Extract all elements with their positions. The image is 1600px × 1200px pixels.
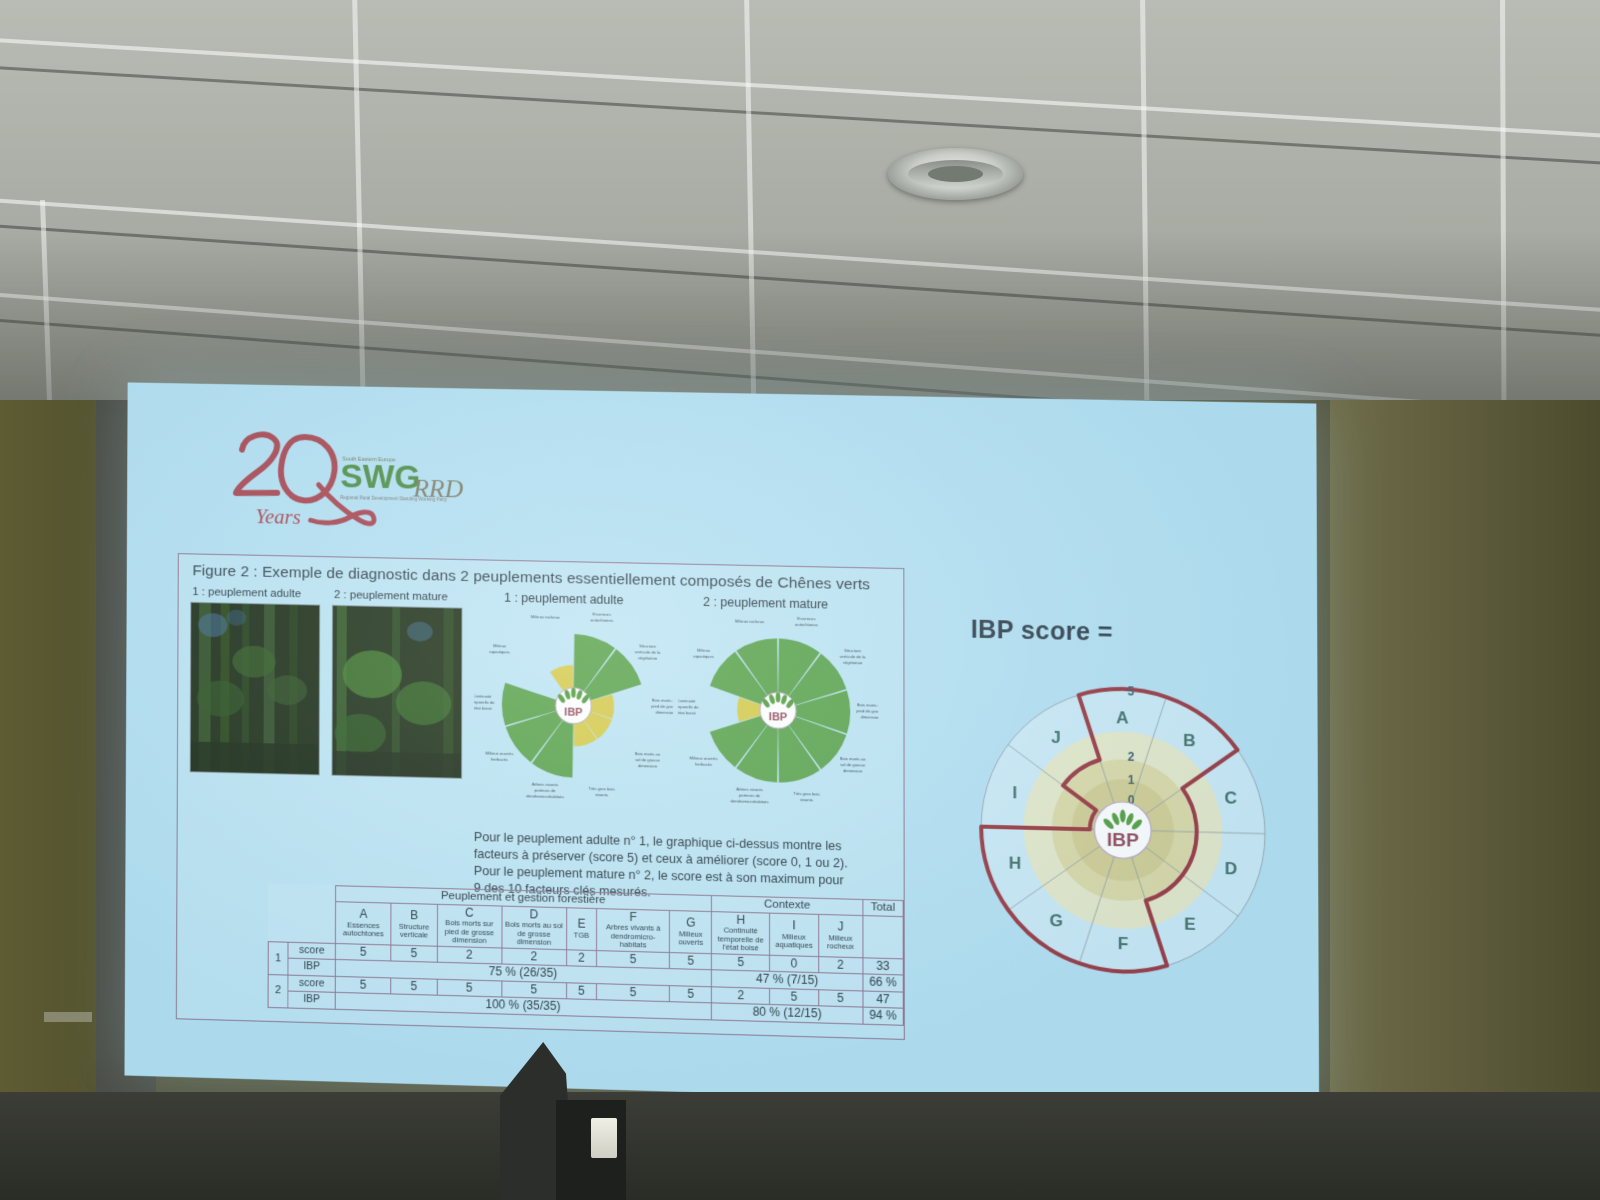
cell-total-1: 33 — [863, 958, 904, 976]
svg-text:B: B — [1183, 731, 1196, 751]
svg-text:Bois morts au: Bois morts au — [840, 756, 866, 762]
svg-text:autochtones: autochtones — [795, 622, 818, 628]
svg-text:Arbres vivants: Arbres vivants — [532, 782, 558, 788]
ibp-score-panel: IBP score = 0125ABCDEFGHIJIBP — [951, 615, 1286, 1026]
svg-text:temporelle de: temporelle de — [678, 704, 699, 710]
svg-text:l'état boisé: l'état boisé — [678, 710, 697, 716]
svg-text:IBP: IBP — [564, 706, 582, 718]
col-header-c: C Bois morts sur pied de grosse dimensio… — [437, 904, 502, 948]
photo-label-1: 1 : peuplement adulte — [192, 586, 301, 600]
svg-text:2: 2 — [1128, 750, 1135, 764]
cell-score-1-a: 5 — [335, 943, 391, 961]
cell-score-2-e: 5 — [566, 982, 596, 999]
forest-photo-adulte — [190, 602, 321, 776]
cell-score-1-c: 2 — [437, 946, 502, 964]
cell-ibp-context-2: 80 % (12/15) — [712, 1003, 863, 1024]
ibp-radar-chart: 0125ABCDEFGHIJIBP — [961, 657, 1286, 1003]
svg-text:Très gros bois: Très gros bois — [589, 786, 615, 792]
row-index-2: 2 — [268, 974, 288, 1007]
ibp-score-table: Peuplement et gestion forestière Context… — [268, 883, 904, 1025]
svg-text:Arbres vivants: Arbres vivants — [736, 787, 763, 793]
cell-score-2-c: 5 — [437, 979, 502, 997]
cell-total-2: 47 — [863, 991, 904, 1009]
col-header-h: H Continuité temporelle de l'état boisé — [712, 911, 770, 955]
svg-text:Structure: Structure — [639, 643, 657, 648]
svg-text:G: G — [1050, 910, 1063, 930]
wall-sticker — [44, 1012, 92, 1022]
ceiling — [0, 0, 1600, 400]
svg-text:D: D — [1225, 858, 1238, 878]
svg-text:I: I — [1013, 783, 1018, 802]
svg-text:C: C — [1225, 789, 1238, 809]
svg-text:verticale de la: verticale de la — [840, 654, 867, 660]
screenshot-root: Years SWG RRD South Eastern Europe Regio… — [0, 0, 1600, 1200]
logo-brand-top-line: South Eastern Europe — [342, 456, 395, 463]
svg-text:dendromicrohabitats: dendromicrohabitats — [731, 799, 769, 805]
cell-score-2-a: 5 — [335, 976, 391, 994]
cell-score-2-i: 5 — [770, 988, 819, 1006]
cell-score-2-j: 5 — [818, 989, 862, 1007]
svg-text:vivants: vivants — [595, 793, 608, 798]
col-header-b: B Structure verticale — [391, 903, 437, 946]
wheel-chart-adulte: IBPEssencesautochtonesStructureverticale… — [474, 604, 673, 813]
svg-text:5: 5 — [1127, 684, 1134, 698]
svg-text:Milieux rocheux: Milieux rocheux — [735, 618, 765, 624]
svg-text:F: F — [1118, 934, 1129, 954]
col-header-g: G Milieux ouverts — [670, 910, 712, 953]
svg-text:Bois morts sur: Bois morts sur — [857, 702, 879, 708]
swg-rrd-logo: Years SWG RRD South Eastern Europe Regio… — [220, 414, 467, 538]
svg-text:dimension: dimension — [638, 763, 658, 769]
cell-score-2-g: 5 — [670, 985, 712, 1003]
svg-text:dimension: dimension — [861, 714, 879, 720]
col-header-d: D Bois morts au sol de grosse dimension — [502, 906, 567, 950]
cell-score-1-h: 5 — [712, 954, 770, 972]
svg-text:J: J — [1051, 728, 1061, 747]
cell-score-2-d: 5 — [502, 981, 567, 999]
cell-score-2-f: 5 — [597, 983, 670, 1002]
svg-text:dimension: dimension — [656, 710, 674, 715]
svg-text:Bois morts au: Bois morts au — [635, 751, 661, 757]
svg-text:autochtones: autochtones — [590, 618, 613, 624]
cell-score-1-e: 2 — [566, 950, 596, 967]
cell-score-1-d: 2 — [502, 948, 567, 966]
svg-text:E: E — [1184, 914, 1196, 934]
cell-ibp-total-2: 94 % — [863, 1007, 904, 1025]
col-header-j: J Milieux rocheux — [818, 914, 862, 957]
svg-text:verticale de la: verticale de la — [635, 649, 661, 655]
svg-text:IBP: IBP — [1107, 829, 1139, 851]
svg-text:Structure: Structure — [844, 648, 862, 653]
svg-text:Bois morts sur: Bois morts sur — [652, 698, 673, 704]
cell-score-1-i: 0 — [770, 955, 819, 973]
col-header-f: F Arbres vivants à dendromicro-habitats — [597, 908, 670, 952]
cell-score-2-b: 5 — [391, 978, 437, 996]
svg-text:aquatiques: aquatiques — [489, 649, 509, 654]
cell-ibp-total-1: 66 % — [863, 974, 904, 992]
svg-text:herbacés: herbacés — [491, 757, 508, 762]
svg-text:Très gros bois: Très gros bois — [793, 791, 819, 797]
svg-text:sol de grosse: sol de grosse — [635, 757, 661, 763]
svg-text:1: 1 — [1128, 772, 1135, 786]
svg-text:aquatiques: aquatiques — [693, 653, 713, 658]
svg-text:porteurs de: porteurs de — [535, 788, 557, 794]
row-tag-score-1: score — [288, 942, 335, 960]
svg-text:végétation: végétation — [843, 660, 863, 665]
svg-text:Milieux: Milieux — [697, 648, 711, 653]
row-index-1: 1 — [268, 941, 288, 974]
svg-text:dendromicrohabitats: dendromicrohabitats — [526, 794, 564, 800]
ceiling-vent-icon — [888, 148, 1023, 200]
logo-brand-sub-line: Regional Rural Development Standing Work… — [340, 495, 447, 502]
row-tag-ibp-2: IBP — [288, 991, 335, 1009]
svg-text:Milieux ouverts: Milieux ouverts — [486, 751, 514, 757]
logo-years-text: Years — [255, 504, 300, 529]
wheel-chart-mature: IBPEssencesautochtonesStructureverticale… — [678, 608, 878, 818]
svg-text:A: A — [1116, 708, 1128, 728]
col-header-a: A Essences autochtones — [335, 902, 391, 945]
svg-text:Milieux ouverts: Milieux ouverts — [690, 755, 718, 761]
svg-text:Essences: Essences — [797, 616, 815, 621]
svg-text:porteurs de: porteurs de — [739, 793, 761, 799]
col-header-e: E TGB — [566, 908, 596, 951]
svg-text:dimension: dimension — [843, 768, 863, 774]
cell-score-1-f: 5 — [597, 950, 670, 968]
cell-score-1-g: 5 — [670, 952, 712, 970]
svg-text:l'état boisé: l'état boisé — [474, 705, 493, 710]
svg-text:pied de grosse: pied de grosse — [651, 704, 673, 710]
row-tag-ibp-1: IBP — [288, 958, 335, 976]
ibp-score-title: IBP score = — [971, 616, 1113, 648]
cell-score-2-h: 2 — [712, 986, 770, 1004]
photo-label-2: 2 : peuplement mature — [334, 589, 448, 603]
svg-text:IBP: IBP — [769, 711, 787, 724]
foreground-floor — [0, 1092, 1600, 1200]
col-header-i: I Milieux aquatiques — [770, 913, 819, 956]
svg-text:vivants: vivants — [800, 798, 813, 803]
group-header-total: Total — [863, 899, 904, 916]
svg-text:Essences: Essences — [593, 612, 611, 617]
svg-text:Milieux rocheux: Milieux rocheux — [531, 614, 561, 620]
cell-score-1-b: 5 — [391, 945, 437, 963]
svg-text:Continuité: Continuité — [678, 698, 696, 703]
projected-slide: Years SWG RRD South Eastern Europe Regio… — [124, 382, 1319, 1110]
row-tag-score-2: score — [288, 975, 335, 993]
svg-text:végétation: végétation — [638, 655, 658, 660]
svg-text:Continuité: Continuité — [474, 693, 492, 698]
cell-score-1-j: 2 — [818, 956, 862, 974]
svg-text:H: H — [1009, 853, 1021, 873]
svg-text:pied de grosse: pied de grosse — [857, 708, 879, 714]
svg-text:Milieux: Milieux — [493, 643, 507, 648]
col-header-total-blank — [863, 915, 904, 958]
svg-text:sol de grosse: sol de grosse — [840, 762, 866, 768]
figure-panel: Figure 2 : Exemple de diagnostic dans 2 … — [176, 553, 905, 1040]
right-wall — [1330, 330, 1600, 1200]
svg-text:herbacés: herbacés — [695, 762, 712, 767]
forest-photo-mature — [331, 605, 462, 779]
svg-text:temporelle de: temporelle de — [474, 699, 495, 705]
lectern-white-object — [591, 1118, 617, 1158]
